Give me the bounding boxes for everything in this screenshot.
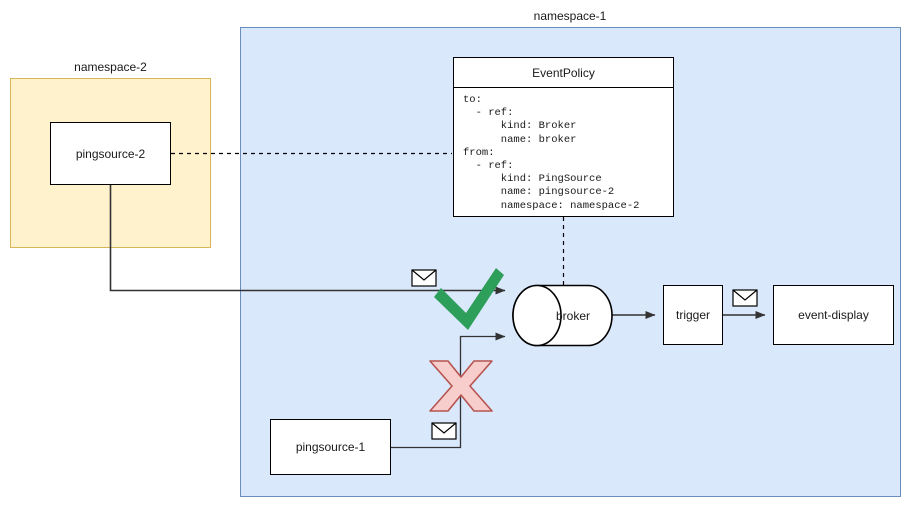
node-label: event-display: [798, 308, 869, 322]
node-trigger[interactable]: trigger: [663, 285, 723, 345]
node-label: broker: [556, 309, 590, 323]
node-broker-label: broker: [513, 285, 611, 346]
diagram-canvas: namespace-1 namespace-2: [0, 0, 911, 508]
node-event-display[interactable]: event-display: [773, 285, 894, 345]
node-label: pingsource-1: [296, 440, 365, 454]
namespace-1-label: namespace-1: [470, 9, 670, 23]
node-label: trigger: [676, 308, 710, 322]
node-label: pingsource-2: [76, 147, 145, 161]
eventpolicy-spec: to: - ref: kind: Broker name: broker fro…: [454, 88, 673, 213]
node-pingsource-1[interactable]: pingsource-1: [270, 419, 391, 475]
namespace-2-label: namespace-2: [10, 60, 211, 74]
node-pingsource-2[interactable]: pingsource-2: [50, 122, 171, 185]
eventpolicy-title: EventPolicy: [454, 58, 673, 88]
eventpolicy-card[interactable]: EventPolicy to: - ref: kind: Broker name…: [453, 57, 674, 217]
